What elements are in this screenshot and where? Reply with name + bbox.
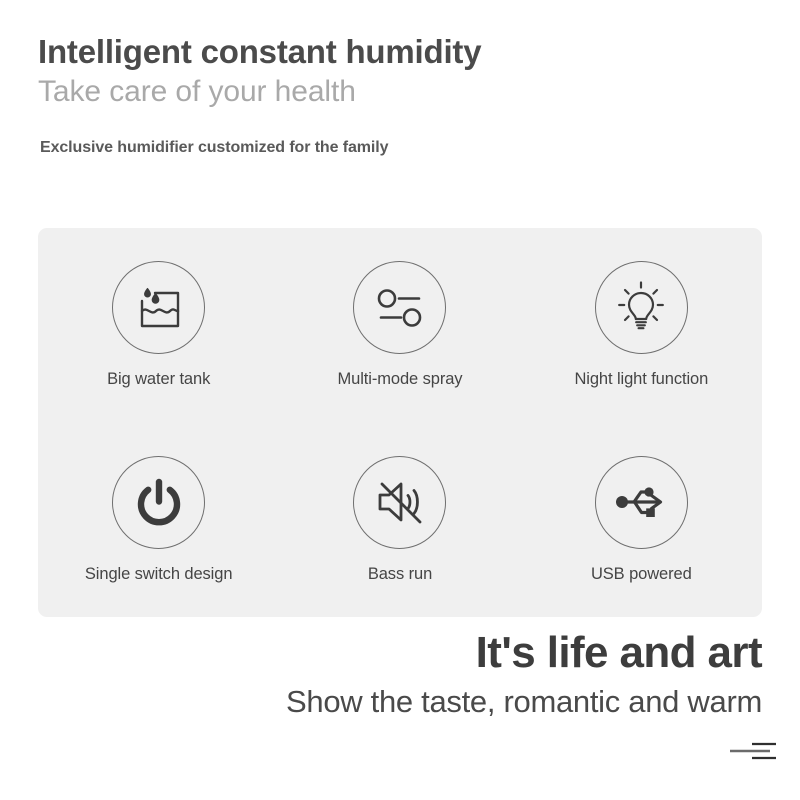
tagline-title: It's life and art (38, 630, 762, 676)
icon-circle (595, 261, 688, 354)
light-bulb-icon (614, 281, 668, 335)
feature-item-night-light[interactable]: Night light function (521, 261, 762, 389)
icon-circle (112, 456, 205, 549)
header-block: Intelligent constant humidity Take care … (38, 32, 758, 157)
feature-item-single-switch[interactable]: Single switch design (38, 456, 279, 584)
usb-icon (613, 481, 669, 523)
feature-item-big-water-tank[interactable]: Big water tank (38, 261, 279, 389)
feature-label: Bass run (368, 565, 432, 584)
icon-circle (112, 261, 205, 354)
feature-panel: Big water tank Multi-mode spray (38, 228, 762, 617)
spray-mode-icon (374, 287, 426, 329)
water-tank-icon (133, 284, 185, 332)
page-note: Exclusive humidifier customized for the … (40, 139, 758, 157)
icon-circle (353, 261, 446, 354)
footer-block: It's life and art Show the taste, romant… (38, 630, 762, 720)
feature-grid: Big water tank Multi-mode spray (38, 228, 762, 617)
feature-label: Night light function (574, 370, 708, 389)
feature-item-multi-mode-spray[interactable]: Multi-mode spray (279, 261, 520, 389)
corner-mark (726, 738, 782, 764)
power-icon (134, 477, 184, 527)
feature-label: Big water tank (107, 370, 210, 389)
tagline-subtitle: Show the taste, romantic and warm (38, 684, 762, 720)
feature-item-usb-powered[interactable]: USB powered (521, 456, 762, 584)
icon-circle (353, 456, 446, 549)
arrow-lines-mark (726, 751, 782, 768)
feature-item-bass-run[interactable]: Bass run (279, 456, 520, 584)
mute-speaker-icon (373, 477, 427, 527)
feature-label: Single switch design (85, 565, 233, 584)
page-title: Intelligent constant humidity (38, 32, 758, 72)
page-subtitle: Take care of your health (38, 74, 758, 111)
feature-label: USB powered (591, 565, 692, 584)
feature-label: Multi-mode spray (338, 370, 463, 389)
promo-page: Intelligent constant humidity Take care … (0, 0, 800, 800)
icon-circle (595, 456, 688, 549)
